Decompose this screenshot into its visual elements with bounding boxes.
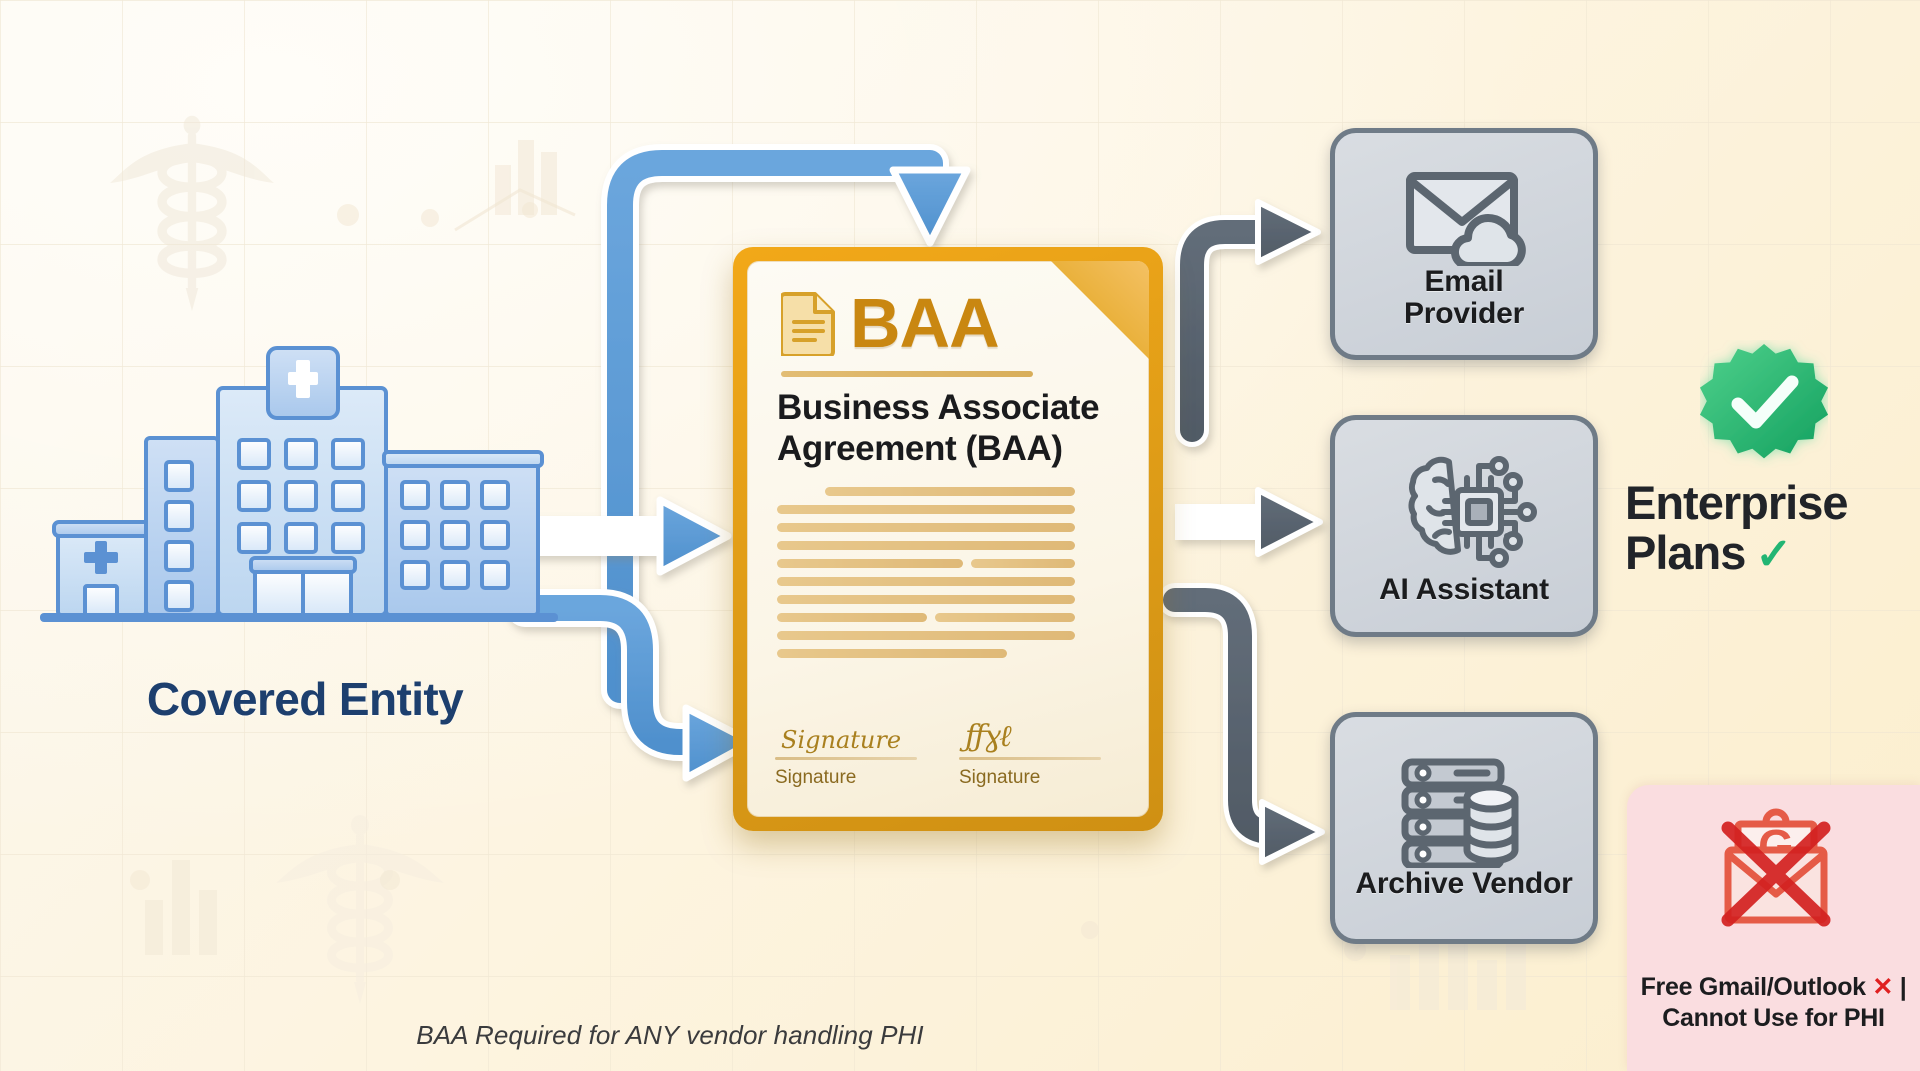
vendor-label-ai-assistant: AI Assistant [1379,574,1549,606]
vendor-label-email-provider: Email Provider [1404,266,1524,331]
warning-line1: Free Gmail/Outlook ✕ | [1627,972,1920,1003]
baa-title-line1: Business Associate [777,387,1107,428]
doc-body-line [777,595,1075,604]
document-file-icon [781,290,837,356]
envelope-cloud-icon [1396,162,1532,266]
red-x-mark-icon: ✕ [1872,973,1893,1001]
doc-body-line [777,559,963,568]
crossed-out-gmail-envelope-icon: G [1712,808,1840,936]
warning-line2: Cannot Use for PHI [1627,1003,1920,1034]
doc-body-line [777,541,1075,550]
enterprise-line2-wrap: Plans ✓ [1625,528,1910,579]
signature-block: Signature Signature [775,714,917,789]
doc-body-line [825,487,1075,496]
doc-body-line [777,505,1075,514]
signature-block: ƒƒɣℓ Signature [959,714,1101,789]
signature-caption: Signature [775,767,917,789]
baa-document-card: BAA Business Associate Agreement (BAA) [733,247,1163,831]
diagram-canvas: Covered Entity BAA Business Assoc [0,0,1920,1071]
baa-title: Business Associate Agreement (BAA) [777,387,1107,470]
enterprise-line2: Plans [1625,528,1745,578]
title-divider [781,371,1033,377]
doc-body-line [777,649,1007,658]
warning-text: Free Gmail/Outlook ✕ | Cannot Use for PH… [1627,972,1920,1035]
server-database-icon [1391,756,1537,868]
signature-script: ƒƒɣℓ [959,714,1101,754]
enterprise-line1: Enterprise [1625,478,1910,528]
doc-body-line [777,577,1075,586]
doc-body-line [777,613,927,622]
green-verified-check-badge-icon [1700,340,1828,468]
green-check-mark-icon: ✓ [1755,532,1791,579]
signature-rule [959,757,1101,760]
covered-entity-node [40,330,570,630]
doc-body-line [971,559,1075,568]
doc-body-line [777,523,1075,532]
diagram-caption: BAA Required for ANY vendor handling PHI [0,1020,1340,1051]
enterprise-plans-label: Enterprise Plans ✓ [1625,478,1910,578]
vendor-card-email-provider[interactable]: Email Provider [1330,128,1598,360]
page-fold-corner-icon [1051,261,1149,359]
signature-area: Signature Signature ƒƒɣℓ Signature [775,714,1105,789]
signature-caption: Signature [959,767,1101,789]
vendor-card-ai-assistant[interactable]: AI Assistant [1330,415,1598,637]
baa-title-line2: Agreement (BAA) [777,428,1107,469]
baa-acronym: BAA [850,283,999,363]
brain-chip-icon [1389,446,1539,574]
hospital-building-icon [40,330,570,630]
signature-rule [775,757,917,760]
vendor-card-archive-vendor[interactable]: Archive Vendor [1330,712,1598,944]
vendor-label-archive-vendor: Archive Vendor [1355,868,1572,900]
doc-body-line [777,631,1075,640]
signature-script: Signature [775,714,917,754]
doc-body-line [935,613,1075,622]
covered-entity-label: Covered Entity [40,672,570,726]
